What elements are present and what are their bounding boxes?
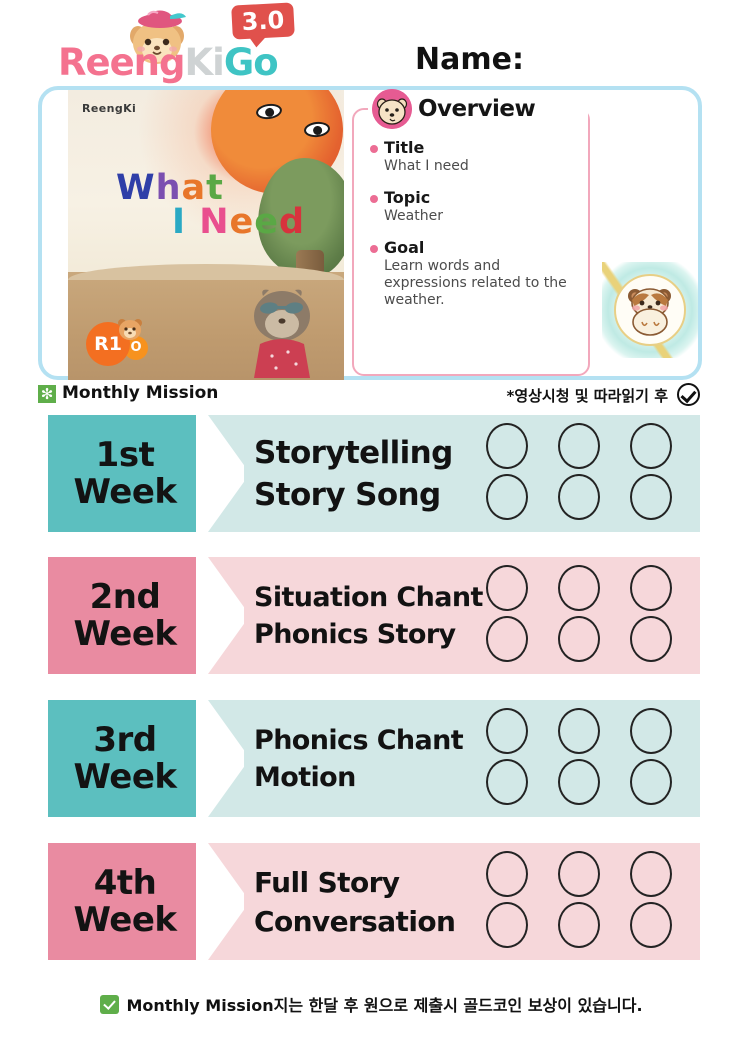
logo-part-2: Ki [185, 41, 224, 84]
version-badge: 3.0 [231, 2, 295, 39]
mission-circle[interactable] [630, 708, 672, 754]
page-footer: Monthly Mission지는 한달 후 원으로 제출시 골드코인 보상이 … [0, 988, 743, 1020]
page-header: ReengKiGo 3.0 Name: [0, 0, 743, 86]
week-ordinal: 4th [94, 865, 157, 902]
hamster-icon [622, 282, 678, 338]
week-word: Week [73, 902, 176, 939]
mission-circle[interactable] [558, 759, 600, 805]
week-ordinal: 3rd [93, 722, 156, 759]
cover-publisher-label: ReengKi [82, 102, 136, 115]
week-task-label: Motion [254, 762, 494, 793]
week-row[interactable]: 1st Week Storytelling Story Song [48, 415, 700, 532]
week-task-label: Situation Chant [254, 582, 494, 613]
mission-circle[interactable] [558, 423, 600, 469]
week-ordinal: 2nd [90, 579, 161, 616]
week-task-label: Phonics Chant [254, 725, 494, 756]
mission-circle[interactable] [558, 902, 600, 948]
mission-circle[interactable] [486, 759, 528, 805]
week-task-labels: Phonics Chant Motion [254, 700, 494, 817]
mission-circle[interactable] [630, 474, 672, 520]
mission-circle[interactable] [630, 902, 672, 948]
monthly-mission-header: ✻ Monthly Mission *영상시청 및 따라읽기 후 [38, 383, 702, 409]
mission-circle[interactable] [486, 851, 528, 897]
overview-item-goal: Goal Learn words and expressions related… [370, 238, 576, 309]
week-row[interactable]: 4th Week Full Story Conversation [48, 843, 700, 960]
overview-item-value: Learn words and expressions related to t… [370, 258, 576, 309]
overview-item-value: Weather [370, 208, 576, 225]
footer-note-text: Monthly Mission지는 한달 후 원으로 제출시 골드코인 보상이 … [126, 992, 642, 1016]
week-row[interactable]: 2nd Week Situation Chant Phonics Story [48, 557, 700, 674]
overview-title: Overview [418, 96, 535, 122]
week-task-labels: Storytelling Story Song [254, 415, 494, 532]
mission-note-text: *영상시청 및 따라읽기 후 [506, 385, 668, 406]
week-task-label: Phonics Story [254, 619, 494, 650]
week-checkbox-grid [476, 851, 686, 953]
book-cover-image: ReengKi What I Need O R1 [68, 90, 344, 380]
overview-items: Title What I need Topic Weather Goal Lea… [370, 138, 576, 322]
mission-circle[interactable] [486, 708, 528, 754]
week-word: Week [73, 474, 176, 511]
mission-circle[interactable] [486, 616, 528, 662]
overview-item-label: Title [370, 138, 576, 157]
mission-circle[interactable] [486, 423, 528, 469]
overview-heading-row: Overview [368, 92, 588, 126]
week-task-label: Storytelling [254, 435, 494, 471]
mission-circle[interactable] [558, 565, 600, 611]
mission-circle[interactable] [630, 851, 672, 897]
green-check-icon [100, 995, 119, 1014]
week-row[interactable]: 3rd Week Phonics Chant Motion [48, 700, 700, 817]
mission-circle[interactable] [486, 565, 528, 611]
week-ordinal: 1st [96, 437, 155, 474]
mission-circle[interactable] [630, 423, 672, 469]
week-task-label: Story Song [254, 477, 494, 513]
week-task-label: Full Story [254, 866, 494, 899]
week-word: Week [73, 759, 176, 796]
mission-circle[interactable] [558, 616, 600, 662]
overview-item-label: Topic [370, 188, 576, 207]
name-field-label: Name: [415, 42, 524, 77]
overview-item-title: Title What I need [370, 138, 576, 175]
week-checkbox-grid [476, 565, 686, 667]
week-task-label: Conversation [254, 905, 494, 938]
cover-otter-character [236, 286, 328, 380]
overview-avatar-icon [372, 89, 412, 129]
monthly-mission-title: Monthly Mission [62, 383, 218, 403]
cover-bear-icon [114, 316, 146, 342]
overview-panel: Overview Title What I need Topic Weather… [352, 108, 590, 376]
logo-wordmark: ReengKiGo [58, 44, 278, 81]
mission-circle[interactable] [630, 565, 672, 611]
week-checkbox-grid [476, 708, 686, 810]
mission-circle[interactable] [558, 851, 600, 897]
mission-circle[interactable] [486, 902, 528, 948]
week-checkbox-grid [476, 423, 686, 525]
overview-item-value: What I need [370, 158, 576, 175]
logo-part-1: Reeng [58, 41, 185, 84]
mission-circle[interactable] [486, 474, 528, 520]
week-task-labels: Full Story Conversation [254, 843, 494, 960]
overview-item-label: Goal [370, 238, 576, 257]
week-task-labels: Situation Chant Phonics Story [254, 557, 494, 674]
mission-circle[interactable] [630, 759, 672, 805]
asterisk-icon: ✻ [38, 385, 56, 403]
mission-circle[interactable] [558, 708, 600, 754]
week-word: Week [73, 616, 176, 653]
overview-item-topic: Topic Weather [370, 188, 576, 225]
mission-circle[interactable] [558, 474, 600, 520]
cover-title-line2: I Need [172, 202, 305, 242]
check-circle-icon [677, 383, 700, 406]
mission-circle[interactable] [630, 616, 672, 662]
hamster-sticker [602, 262, 698, 358]
